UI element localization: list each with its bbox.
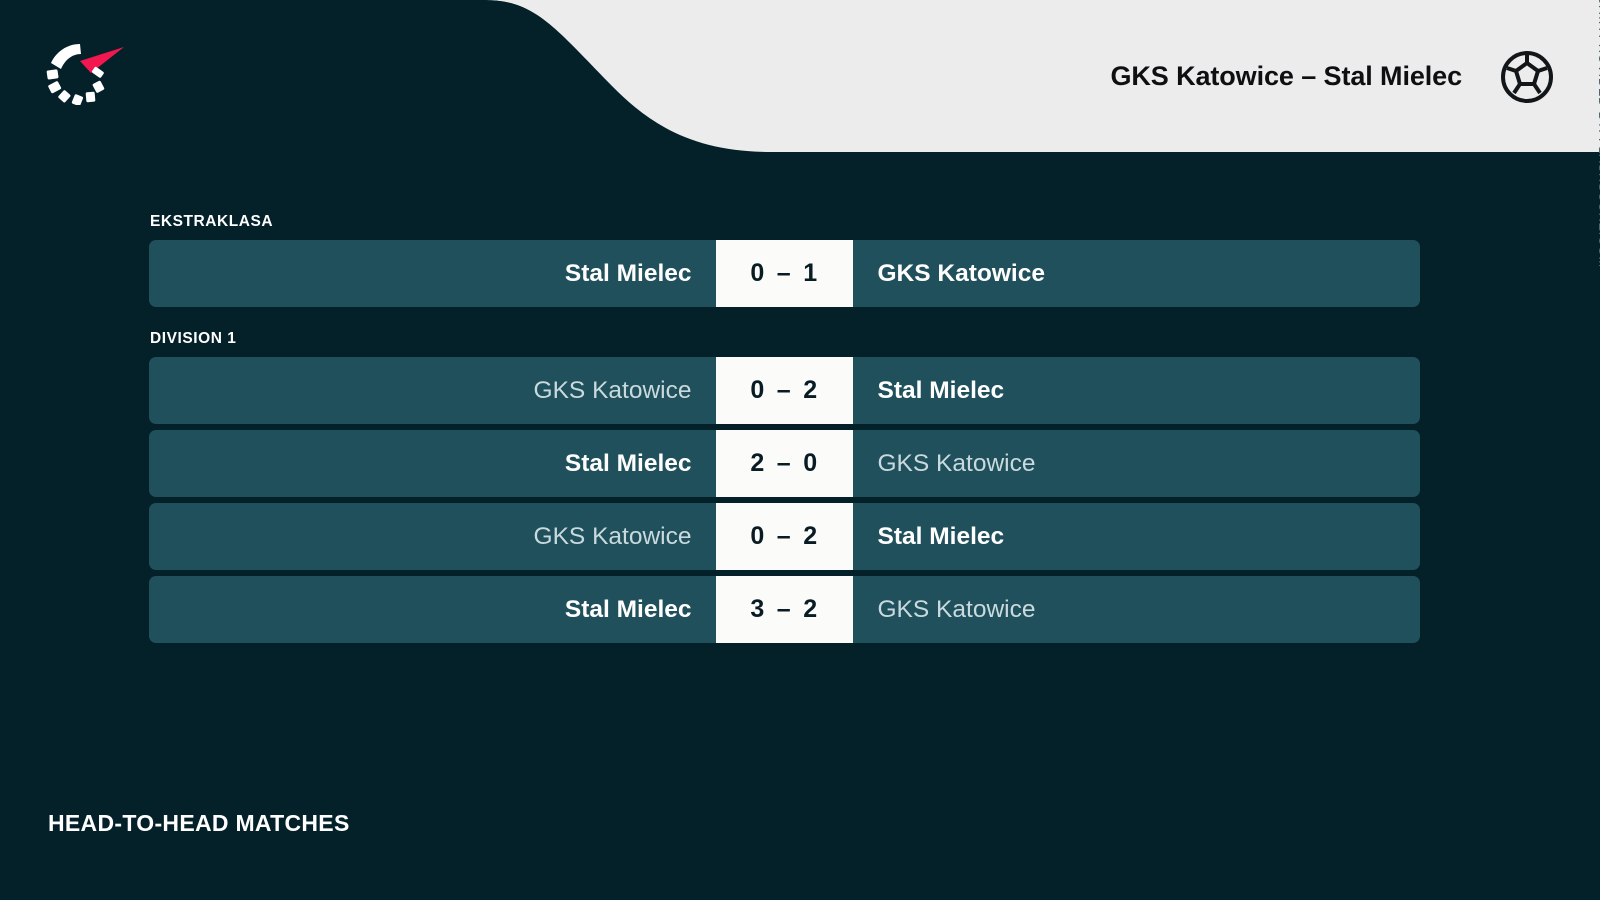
score-separator: – xyxy=(777,522,791,551)
home-score: 0 xyxy=(750,376,764,405)
home-team-name: Stal Mielec xyxy=(149,576,716,643)
competition-label-division-1: DIVISION 1 xyxy=(0,330,1600,348)
away-score: 0 xyxy=(803,449,817,478)
table-row[interactable]: Stal Mielec 2 – 0 GKS Katowice xyxy=(149,430,1420,497)
data-provider-note: DATA PROVIDED BY: FLASHSCORE.COM xyxy=(1596,0,1600,268)
header-right-group: GKS Katowice – Stal Mielec xyxy=(1110,0,1600,153)
match-list-ekstraklasa: Stal Mielec 0 – 1 GKS Katowice xyxy=(0,240,1600,307)
table-row[interactable]: Stal Mielec 3 – 2 GKS Katowice xyxy=(149,576,1420,643)
away-team-name: GKS Katowice xyxy=(853,430,1421,497)
table-row[interactable]: GKS Katowice 0 – 2 Stal Mielec xyxy=(149,357,1420,424)
h2h-main: EKSTRAKLASA Stal Mielec 0 – 1 GKS Katowi… xyxy=(0,153,1600,900)
away-team-name: Stal Mielec xyxy=(853,357,1421,424)
score-separator: – xyxy=(777,259,791,288)
home-team-name: Stal Mielec xyxy=(149,430,716,497)
away-score: 1 xyxy=(803,259,817,288)
away-team-name: GKS Katowice xyxy=(853,240,1421,307)
page-header: GKS Katowice – Stal Mielec xyxy=(0,0,1600,153)
soccer-ball-icon xyxy=(1500,50,1554,104)
away-score: 2 xyxy=(803,376,817,405)
home-score: 3 xyxy=(750,595,764,624)
score-box: 0 – 1 xyxy=(716,240,853,307)
score-separator: – xyxy=(777,595,791,624)
home-team-name: Stal Mielec xyxy=(149,240,716,307)
home-team-name: GKS Katowice xyxy=(149,503,716,570)
score-separator: – xyxy=(777,376,791,405)
score-separator: – xyxy=(777,449,791,478)
away-score: 2 xyxy=(803,522,817,551)
flashscore-logo-icon xyxy=(44,39,126,105)
score-box: 2 – 0 xyxy=(716,430,853,497)
score-box: 0 – 2 xyxy=(716,357,853,424)
section-heading-head-to-head: HEAD-TO-HEAD MATCHES xyxy=(48,810,350,837)
home-team-name: GKS Katowice xyxy=(149,357,716,424)
table-row[interactable]: Stal Mielec 0 – 1 GKS Katowice xyxy=(149,240,1420,307)
score-box: 0 – 2 xyxy=(716,503,853,570)
home-score: 0 xyxy=(750,259,764,288)
home-score: 0 xyxy=(750,522,764,551)
away-team-name: GKS Katowice xyxy=(853,576,1421,643)
home-score: 2 xyxy=(750,449,764,478)
score-box: 3 – 2 xyxy=(716,576,853,643)
away-score: 2 xyxy=(803,595,817,624)
table-row[interactable]: GKS Katowice 0 – 2 Stal Mielec xyxy=(149,503,1420,570)
page-title: GKS Katowice – Stal Mielec xyxy=(1110,61,1462,92)
competition-label-ekstraklasa: EKSTRAKLASA xyxy=(0,213,1600,231)
away-team-name: Stal Mielec xyxy=(853,503,1421,570)
match-list-division-1: GKS Katowice 0 – 2 Stal Mielec Stal Miel… xyxy=(0,357,1600,643)
